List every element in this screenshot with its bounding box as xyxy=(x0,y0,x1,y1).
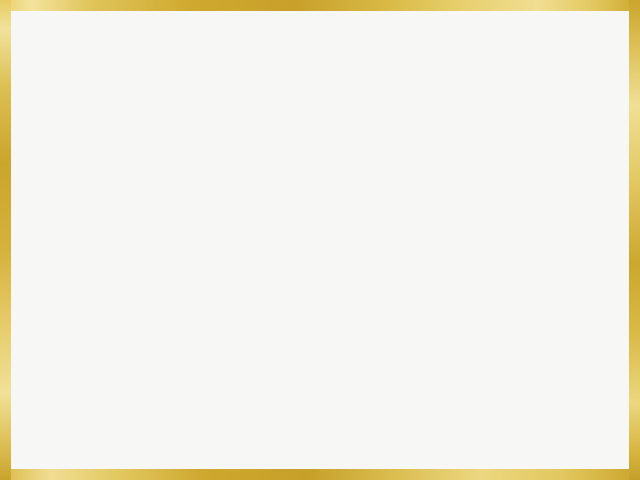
gold-frame-top-edge xyxy=(0,0,640,11)
inner-plate xyxy=(11,11,629,469)
gold-frame-bottom-edge xyxy=(0,469,640,480)
gold-certified-banner: GOLD CERTIFIED 12-month/12,000 mile Limi… xyxy=(0,0,640,480)
